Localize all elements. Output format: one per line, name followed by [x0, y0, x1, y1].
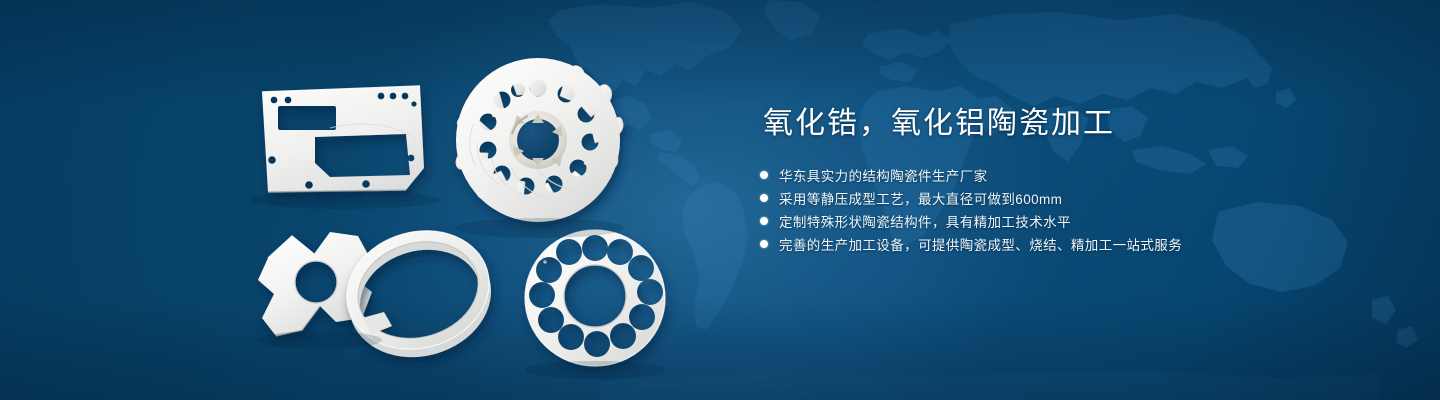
- impeller-hub: [509, 111, 567, 169]
- bullet-dot-icon: [760, 240, 768, 248]
- ceramic-base-plate: [250, 80, 440, 205]
- banner-headline: 氧化锆，氧化铝陶瓷加工: [763, 104, 1380, 144]
- feature-item-2-label: 采用等静压成型工艺，最大直径可做到600mm: [779, 188, 1062, 208]
- feature-item-4-label: 完善的生产加工设备，可提供陶瓷成型、烧结、精加工一站式服务: [779, 234, 1182, 254]
- bullet-dot-icon: [760, 171, 768, 179]
- feature-item-3-label: 定制特殊形状陶瓷结构件，具有精加工技术水平: [779, 211, 1071, 231]
- banner-feature-list: 华东具实力的结构陶瓷件生产厂家 采用等静压成型工艺，最大直径可做到600mm 定…: [760, 164, 1380, 255]
- feature-item-1: 华东具实力的结构陶瓷件生产厂家: [760, 164, 1380, 186]
- ceramic-impeller-disc: [452, 54, 628, 230]
- ceramic-valve-plate: [520, 226, 672, 374]
- feature-item-4: 完善的生产加工设备，可提供陶瓷成型、烧结、精加工一站式服务: [760, 233, 1380, 255]
- banner-text-block: 氧化锆，氧化铝陶瓷加工 华东具实力的结构陶瓷件生产厂家 采用等静压成型工艺，最大…: [760, 104, 1380, 256]
- feature-item-1-label: 华东具实力的结构陶瓷件生产厂家: [779, 165, 988, 185]
- bullet-dot-icon: [760, 194, 768, 202]
- promo-banner: 氧化锆，氧化铝陶瓷加工 华东具实力的结构陶瓷件生产厂家 采用等静压成型工艺，最大…: [0, 0, 1440, 400]
- bullet-dot-icon: [760, 217, 768, 225]
- ceramic-products-image: [0, 0, 720, 400]
- feature-item-2: 采用等静压成型工艺，最大直径可做到600mm: [760, 187, 1380, 209]
- feature-item-3: 定制特殊形状陶瓷结构件，具有精加工技术水平: [760, 210, 1380, 232]
